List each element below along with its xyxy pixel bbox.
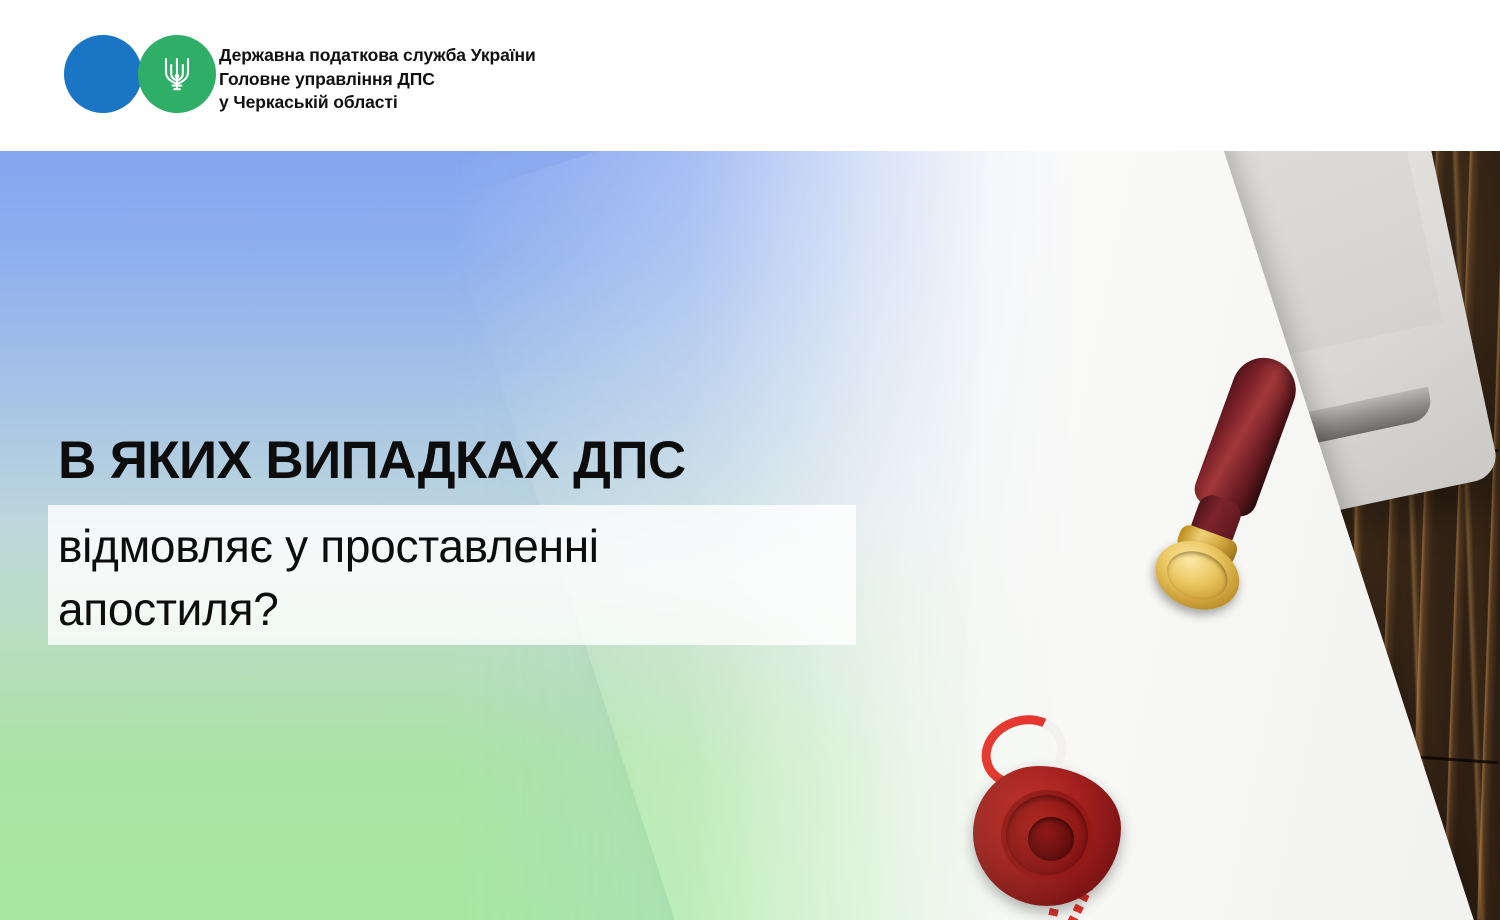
org-line-2: Головне управління ДПС: [219, 68, 536, 92]
dps-logo[interactable]: [64, 35, 212, 113]
trident-center-dot-icon: [175, 74, 180, 79]
logo-green-circle-icon: [138, 35, 216, 113]
ukraine-trident-icon: [160, 52, 194, 96]
logo-blue-circle-icon: [64, 35, 142, 113]
org-line-3: у Черкаській області: [219, 91, 536, 115]
poster-page: Державна податкова служба України Головн…: [0, 0, 1500, 920]
hero-banner: L E A E: [0, 151, 1500, 920]
site-header: Державна податкова служба України Головн…: [0, 0, 1500, 151]
hero-gradient-overlay: [0, 151, 1500, 920]
org-line-1: Державна податкова служба України: [219, 44, 536, 68]
organisation-name: Державна податкова служба України Головн…: [219, 44, 536, 115]
